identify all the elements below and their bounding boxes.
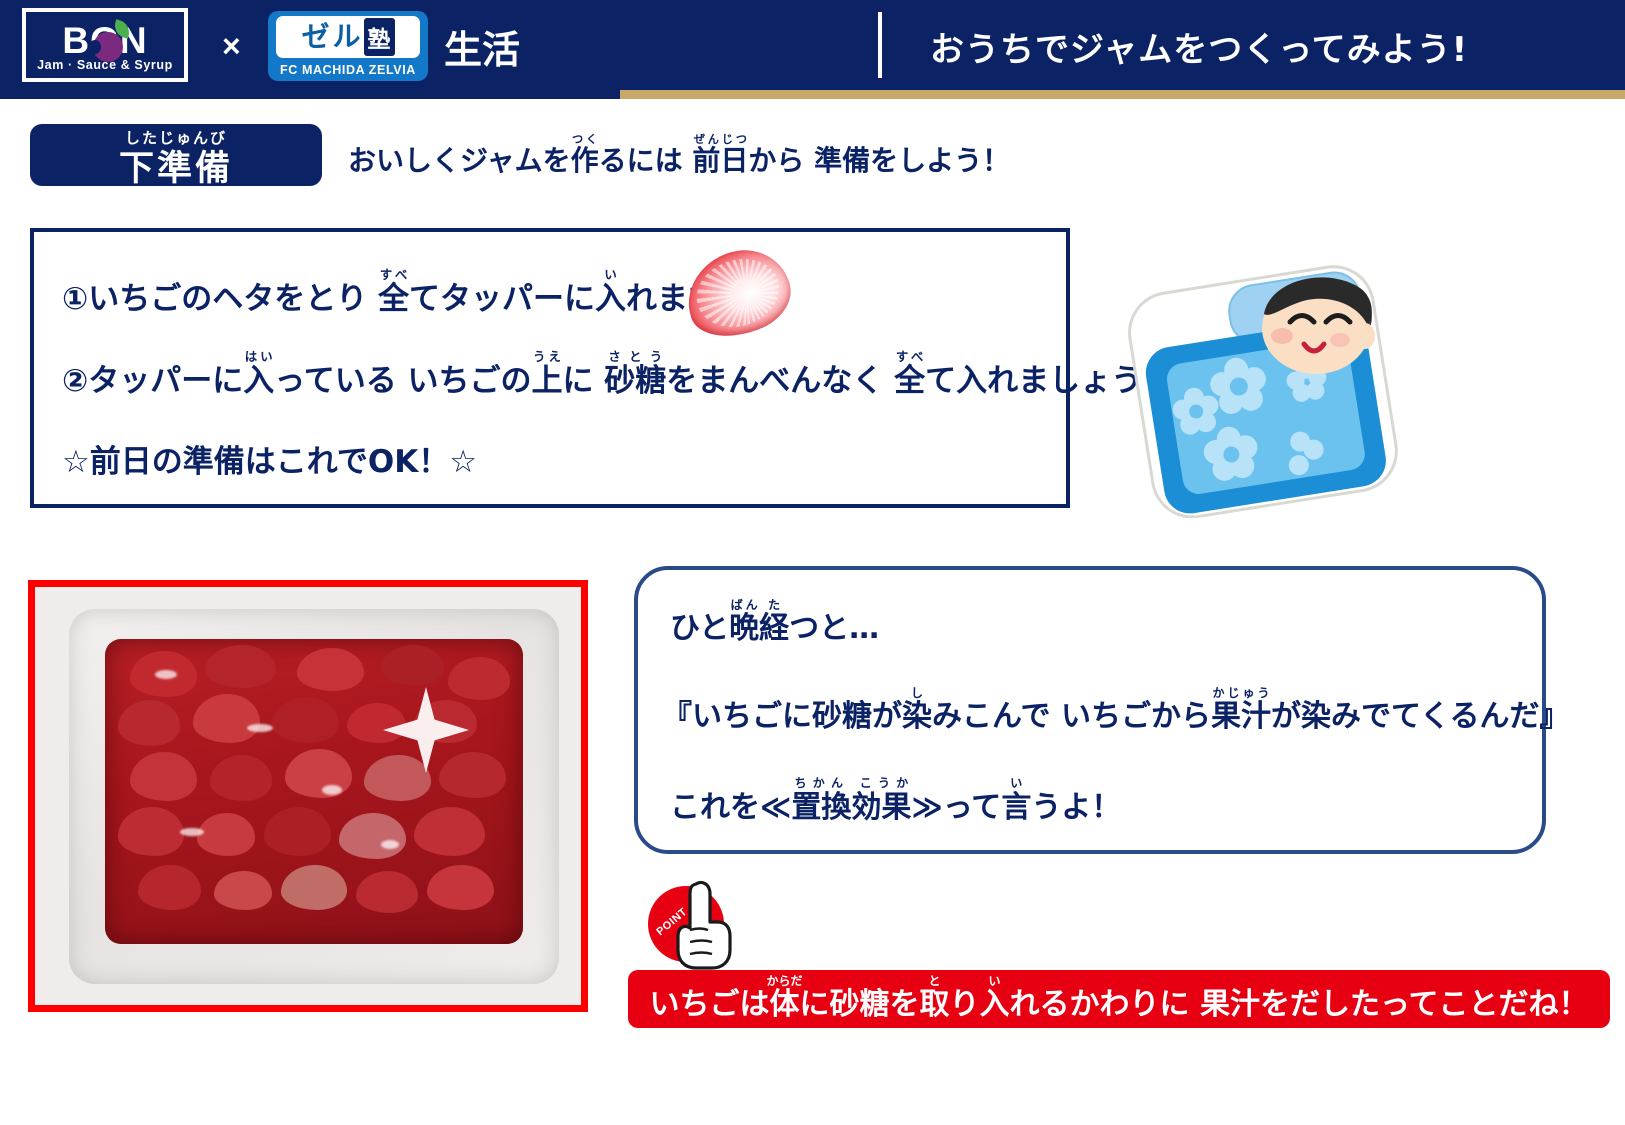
ex1-rt-b: ばん [729, 598, 759, 612]
lead-ruby-tsuku: 作つく [571, 144, 599, 177]
step2-rt-h: すべ [894, 349, 925, 364]
sleeping-person-illustration [1120, 238, 1440, 518]
step2-part-e: に [563, 363, 605, 399]
section-label-pill: したじゅんび 下準備 [30, 124, 322, 186]
step2-ruby-ue: 上うえ [532, 363, 563, 399]
lead-ruby-zenjitsu: 前日ぜんじつ [692, 144, 748, 177]
strawberry-photo [28, 580, 588, 1012]
section-lead-text: おいしくジャムを作つくるには 前日ぜんじつから 準備をしよう！ [348, 133, 1010, 179]
banner-ruby-karada: 体からだ [770, 987, 800, 1022]
ex2-rt-b: し [902, 686, 932, 700]
step2-part-c: っている いちごの [274, 363, 531, 399]
step2-part-b: 入 [243, 363, 274, 399]
lead-part-b: 作 [571, 144, 599, 177]
step-1-text: ①いちごのヘタをとり 全すべてタッパーに入いれます [62, 268, 719, 318]
header-category: 生活 [444, 19, 520, 74]
header-bar: BON Jam · Sauce & Syrup × ゼ ル 塾 FC MACHI… [0, 0, 1625, 90]
ex3-rt-d: い [1001, 776, 1031, 790]
banner-part-f: 入 [980, 987, 1010, 1022]
ex2-part-a: 『いちごに砂糖が [662, 699, 902, 734]
container-contents [105, 639, 523, 944]
step2-part-h: 全 [894, 363, 925, 399]
banner-ruby-i: 入い [980, 987, 1010, 1022]
ex1-part-b: 晩 [729, 611, 759, 646]
point-banner: いちごは体からだに砂糖を取とり入いれるかわりに 果汁をだしたってことだね！ [628, 970, 1610, 1028]
lead-part-c: るには [599, 144, 693, 177]
ex2-part-e: が染みでてくるんだ』 [1271, 699, 1570, 734]
zelvia-logo-char-1: ゼ [301, 23, 329, 51]
ex1-rt-c: た [759, 598, 789, 612]
step1-part-c: てタッパーに [409, 281, 595, 317]
ex2-rt-d: かじゅう [1211, 686, 1271, 700]
step2-part-a: ②タッパーに [62, 363, 243, 399]
banner-rt-f: い [980, 974, 1010, 988]
zelvia-logo-char-3: 塾 [364, 18, 395, 56]
ex2-ruby-shi: 染し [902, 699, 932, 734]
header-gold-rule [0, 90, 1625, 99]
banner-part-c: に砂糖を [800, 987, 920, 1022]
zelvia-club-logo: ゼ ル 塾 FC MACHIDA ZELVIA [268, 11, 428, 81]
ex3-part-a: これを≪ [670, 790, 791, 825]
ex2-ruby-kajuu: 果汁かじゅう [1211, 699, 1271, 734]
lead-rt-d: ぜんじつ [692, 133, 748, 146]
step1-rt-d: い [595, 267, 626, 282]
ex1-part-a: ひと [670, 611, 729, 646]
pointing-hand-svg [670, 878, 734, 970]
ex1-part-d: つと… [789, 611, 879, 646]
lead-part-d: 前日 [692, 144, 748, 177]
ex3-part-e: うよ！ [1031, 790, 1121, 825]
banner-part-d: 取 [920, 987, 950, 1022]
ex1-ruby-ban: 晩ばん [729, 611, 759, 646]
ex1-ruby-ta: 経た [759, 611, 789, 646]
explain-line-1: ひと晩ばん経たつと… [670, 598, 879, 647]
banner-part-e: り [950, 987, 980, 1022]
header-title: おうちでジャムをつくってみよう! [930, 22, 1468, 71]
ex2-part-d: 果汁 [1211, 699, 1271, 734]
banner-part-g: れるかわりに 果汁をだしたってことだね！ [1010, 987, 1589, 1022]
step-3-text: ☆前日の準備はこれでOK！☆ [62, 436, 477, 481]
collab-cross-icon: × [222, 28, 241, 65]
ex3-ruby-i: 言い [1001, 790, 1031, 825]
step1-part-a: ①いちごのヘタをとり [62, 281, 378, 317]
banner-part-a: いちごは [650, 987, 770, 1022]
ex3-ruby-chikankouka: 置換効果ちかん こうか [791, 790, 911, 825]
ex2-part-b: 染 [902, 699, 932, 734]
step1-rt-b: すべ [378, 267, 409, 282]
step1-ruby-subete: 全すべ [378, 281, 409, 317]
header-divider [878, 12, 882, 78]
step2-ruby-hai: 入はい [243, 363, 274, 399]
step1-part-b: 全 [378, 281, 409, 317]
banner-ruby-to: 取と [920, 987, 950, 1022]
explain-line-3: これを≪置換効果ちかん こうか≫って言いうよ！ [670, 776, 1121, 826]
point-banner-text: いちごは体からだに砂糖を取とり入いれるかわりに 果汁をだしたってことだね！ [628, 974, 1610, 1023]
step2-part-d: 上 [532, 363, 563, 399]
plastic-container [69, 609, 559, 984]
futon-svg [1120, 238, 1440, 518]
header-rule-left-segment [0, 90, 620, 99]
pointing-hand-icon [670, 878, 734, 970]
step1-ruby-i: 入い [595, 281, 626, 317]
section-label-text: 下準備 [30, 140, 322, 191]
ex1-part-c: 経 [759, 611, 789, 646]
lead-part-e: から 準備をしよう！ [748, 144, 1010, 177]
bon-brand-logo: BON Jam · Sauce & Syrup [22, 8, 188, 82]
step-2-text: ②タッパーに入はいっている いちごの上うえに 砂糖さとうをまんべんなく 全すべて… [62, 350, 1173, 400]
explain-line-2: 『いちごに砂糖が染しみこんで いちごから果汁かじゅうが染みでてくるんだ』 [662, 686, 1569, 735]
bon-logo-tagline: Jam · Sauce & Syrup [26, 58, 184, 72]
ex2-part-c: みこんで いちごから [932, 699, 1211, 734]
step2-rt-d: うえ [532, 349, 563, 364]
ex3-part-c: ≫って [911, 790, 1001, 825]
step2-ruby-subete: 全すべ [894, 363, 925, 399]
lead-part-a: おいしくジャムを [348, 144, 571, 177]
banner-rt-b: からだ [767, 974, 803, 988]
zelvia-logo-subtitle: FC MACHIDA ZELVIA [268, 63, 428, 77]
banner-rt-d: と [920, 974, 950, 988]
ex3-part-b: 置換効果 [791, 790, 911, 825]
ex3-rt-b: ちかん こうか [791, 776, 911, 790]
step2-part-f: 砂糖 [604, 363, 666, 399]
slide-root: BON Jam · Sauce & Syrup × ゼ ル 塾 FC MACHI… [0, 0, 1625, 1125]
preparation-steps-box: ①いちごのヘタをとり 全すべてタッパーに入いれます ②タッパーに入はいっている … [30, 228, 1070, 508]
lead-rt-b: つく [571, 133, 599, 146]
zelvia-logo-inner: ゼ ル 塾 [276, 16, 420, 58]
zelvia-logo-char-2: ル [333, 23, 361, 51]
step2-rt-b: はい [243, 349, 274, 364]
explanation-box: ひと晩ばん経たつと… 『いちごに砂糖が染しみこんで いちごから果汁かじゅうが染み… [634, 566, 1546, 854]
step2-ruby-satou: 砂糖さとう [604, 363, 666, 399]
step1-part-d: 入 [595, 281, 626, 317]
step2-rt-f: さとう [604, 349, 666, 364]
step2-part-g: をまんべんなく [666, 363, 894, 399]
banner-part-b: 体 [767, 987, 803, 1022]
ex3-part-d: 言 [1001, 790, 1031, 825]
